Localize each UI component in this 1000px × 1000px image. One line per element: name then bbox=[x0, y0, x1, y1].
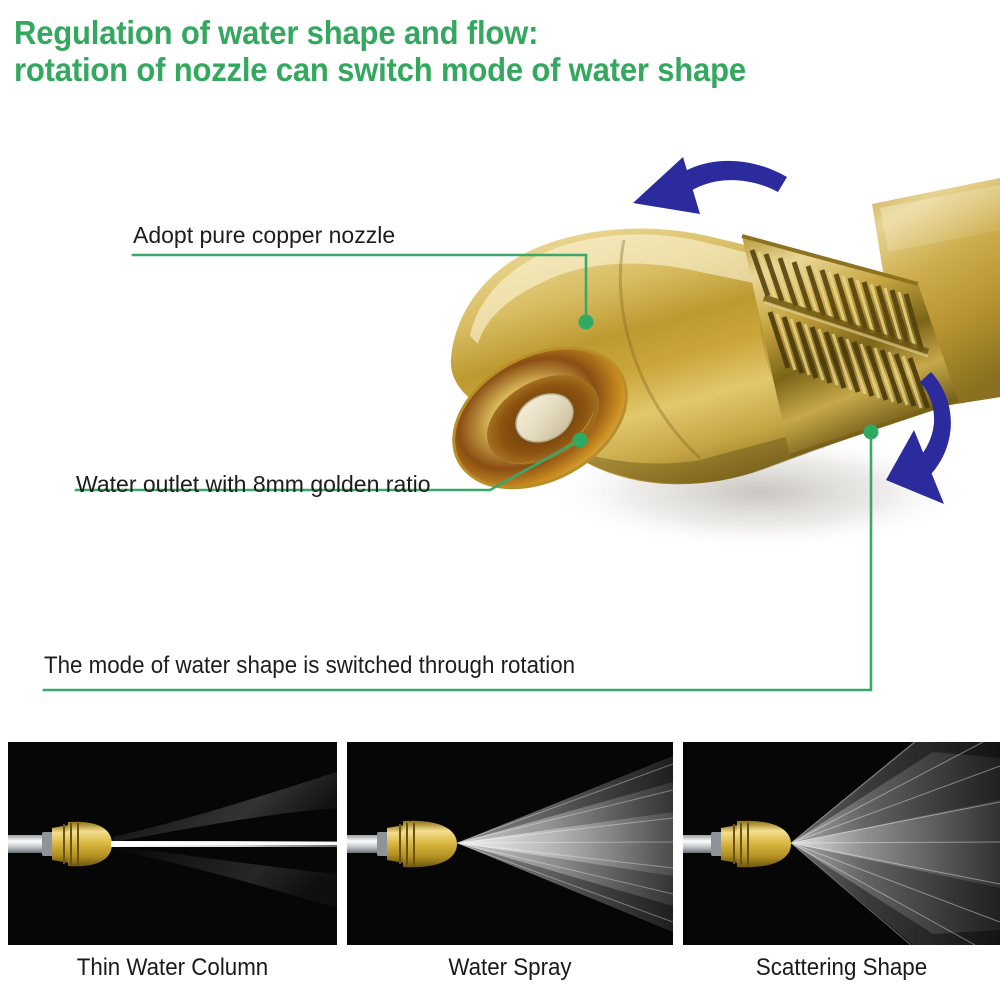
page-title-line-1: Regulation of water shape and flow: bbox=[14, 14, 916, 51]
spray-panel-thin-water-column[interactable]: Thin Water Column bbox=[8, 742, 337, 945]
spray-panel-caption-scattering-shape: Scattering Shape bbox=[694, 954, 989, 982]
spray-photo-thin-water-column bbox=[8, 742, 337, 945]
callout-label-water-outlet: Water outlet with 8mm golden ratio bbox=[76, 471, 431, 497]
page-title: Regulation of water shape and flow: rota… bbox=[14, 14, 916, 88]
nozzle-illustration bbox=[0, 100, 1000, 720]
callout-dot-rotation-mode bbox=[864, 425, 879, 440]
rotate-arrow-top bbox=[633, 157, 787, 214]
spray-photo-scattering-shape bbox=[683, 742, 1000, 945]
callout-label-rotation-mode: The mode of water shape is switched thro… bbox=[44, 653, 575, 679]
spray-panel-water-spray[interactable]: Water Spray bbox=[347, 742, 673, 945]
spray-photo-water-spray bbox=[347, 742, 673, 945]
callout-label-copper-nozzle: Adopt pure copper nozzle bbox=[133, 222, 395, 248]
callout-dot-water-outlet bbox=[573, 433, 588, 448]
spray-panel-scattering-shape[interactable]: Scattering Shape bbox=[683, 742, 1000, 945]
spray-mode-gallery: Thin Water Column bbox=[0, 742, 1000, 1000]
spray-panel-caption-water-spray: Water Spray bbox=[358, 954, 661, 982]
callout-dot-copper-nozzle bbox=[579, 315, 594, 330]
spray-panel-caption-thin-water-column: Thin Water Column bbox=[20, 954, 326, 982]
infographic-root: Regulation of water shape and flow: rota… bbox=[0, 0, 1000, 1000]
page-title-line-2: rotation of nozzle can switch mode of wa… bbox=[14, 51, 916, 88]
